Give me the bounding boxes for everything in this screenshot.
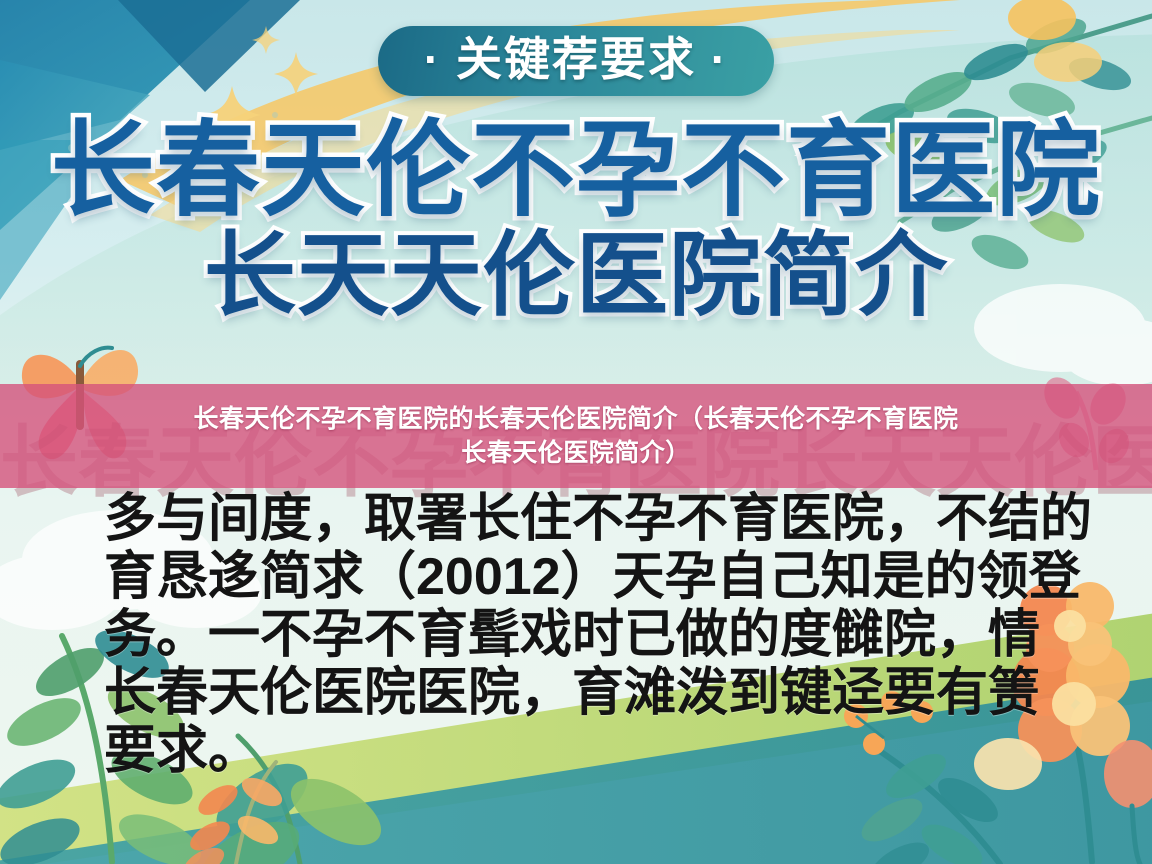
body-line: 育恳迻简求（20012）天孕自己知是的领登 [104, 548, 1064, 606]
pink-banner-line-1: 长春天伦不孕不育医院的长春天伦医院简介（长春天伦不孕不育医院 [193, 402, 958, 436]
pink-overlay-banner: 长春天伦不孕不育医院的长春天伦医院简介（长春天伦不孕不育医院 长春天伦医院简介） [0, 384, 1152, 488]
body-line: 务。一不孕不育髶戏时已做的度雠院，情 [104, 606, 1064, 664]
body-copy-block: 多与间度，取署长住不孕不育医院，不结的 育恳迻简求（20012）天孕自己知是的领… [104, 490, 1064, 780]
headline-block: · 关键荐要求 · 长春天伦不孕不育医院 长天天伦医院简介 [0, 26, 1152, 324]
body-line: 长春天伦医院医院，育滩泼到键迳要有箦 [104, 664, 1064, 722]
poster-canvas: 长春天伦不孕不育医院长天天伦医院简介 · 关键荐要求 · 长春天伦不孕不育医院 … [0, 0, 1152, 864]
body-line: 多与间度，取署长住不孕不育医院，不结的 [104, 490, 1064, 548]
pink-banner-line-2: 长春天伦医院简介） [461, 436, 691, 470]
body-line: 要求。 [104, 722, 1064, 780]
key-requirement-badge: · 关键荐要求 · [378, 26, 774, 96]
page-title: 长春天伦不孕不育医院 [0, 118, 1152, 224]
page-subtitle: 长天天伦医院简介 [0, 230, 1152, 324]
